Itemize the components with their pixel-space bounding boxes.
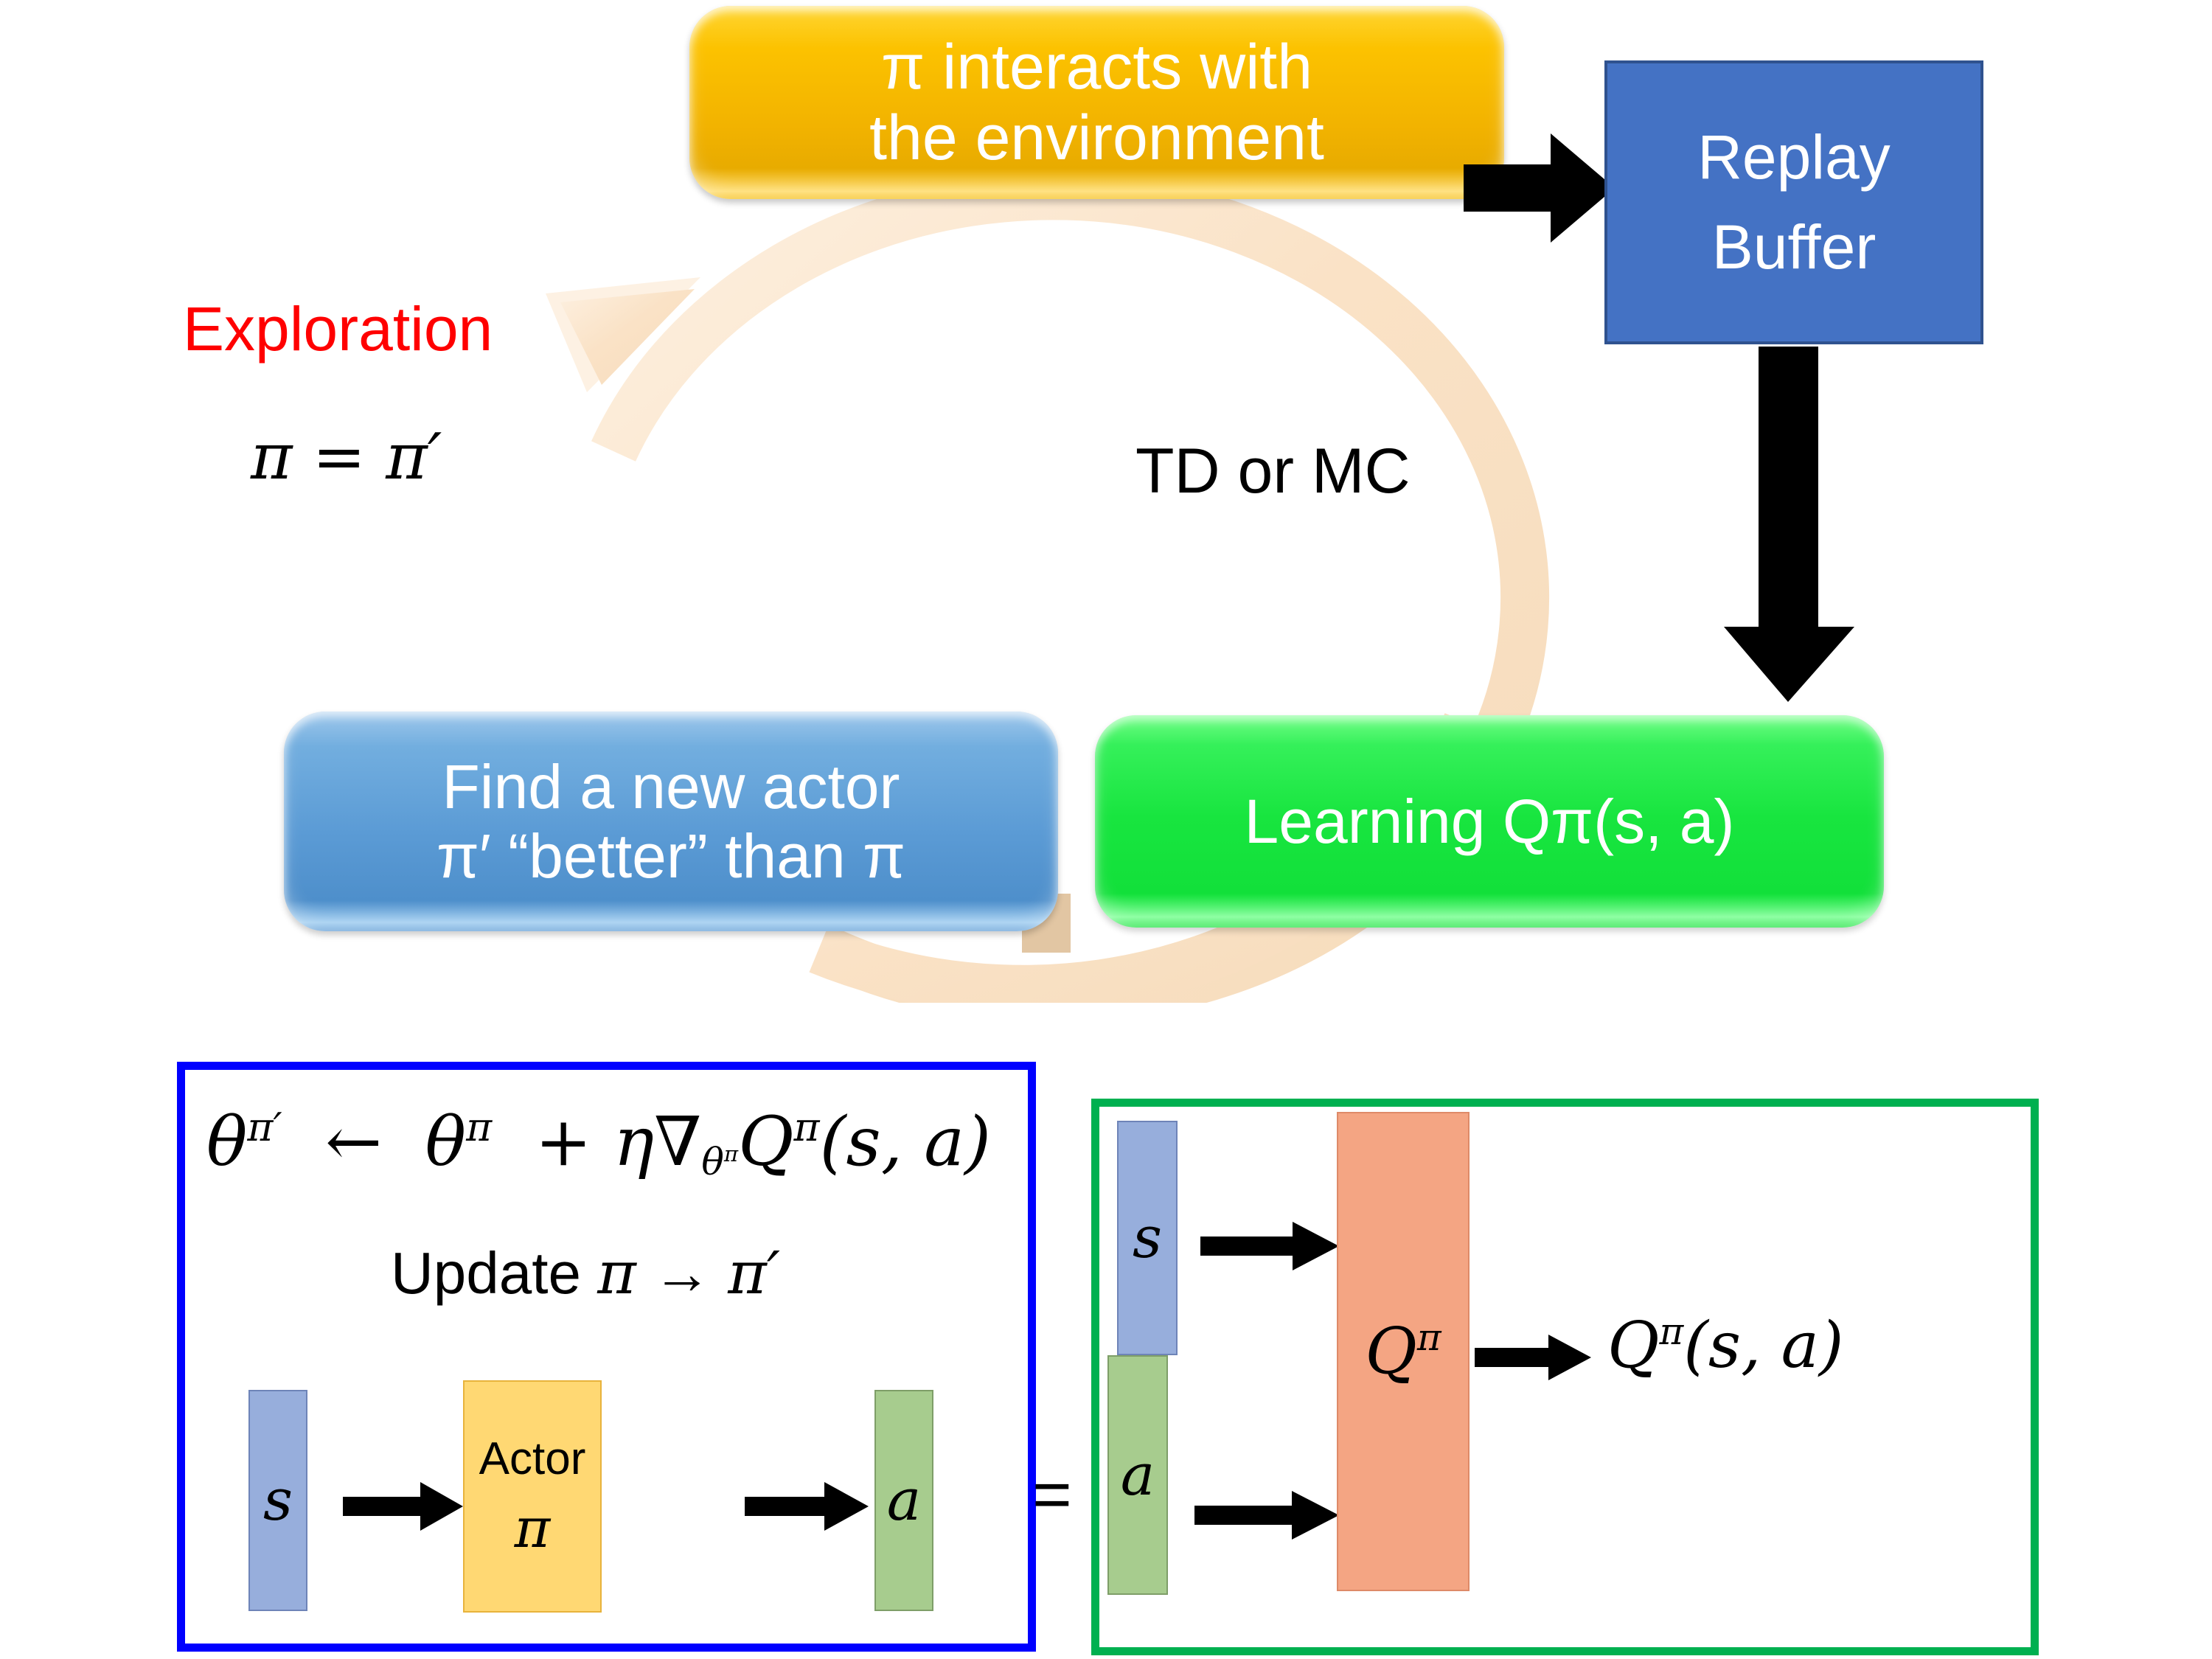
learning-q-label: Learning Qπ(s, a) [1245,787,1735,856]
q-base: Q [1365,1315,1417,1388]
q-output-args: (s, a) [1683,1309,1843,1382]
environment-line2: the environment [869,102,1324,173]
state-symbol-left: s [263,1467,293,1534]
actor-title: Actor [479,1433,586,1485]
update-policy-label: Update π → π′ [391,1239,780,1307]
replay-buffer-box[interactable]: Replay Buffer [1604,60,1983,344]
equals-sign: = [1032,1456,1072,1534]
exploration-label: Exploration [183,293,493,365]
state-block-right: s [1117,1121,1178,1355]
eta-symbol: η [613,1102,654,1181]
update-word: Update [391,1240,597,1306]
learning-q-box[interactable]: Learning Qπ(s, a) [1095,715,1884,928]
environment-box[interactable]: π interacts with the environment [689,6,1504,199]
diagram-canvas: π interacts with the environment Replay … [0,0,2212,1659]
env-to-buffer-arrow-icon [1464,129,1618,247]
update-from-pi: π [597,1239,636,1307]
q-network-block: Qπ [1337,1112,1470,1591]
update-arrow: → [636,1240,728,1306]
actor-to-action-arrow-icon [745,1482,870,1531]
q-network-symbol: Qπ [1365,1315,1441,1388]
q-symbol: Q [738,1102,793,1181]
find-actor-line2: π′ “better” than π [437,821,905,891]
replay-buffer-line1: Replay [1697,113,1890,203]
q-output-sup: π [1660,1310,1684,1353]
policy-gradient-update-equation: θπ′ ← θπ + η∇θπQπ(s, a) [206,1102,991,1183]
state-symbol-right: s [1133,1205,1162,1271]
find-actor-line1: Find a new actor [437,752,905,821]
q-pi-sup: π [794,1104,820,1150]
action-to-q-arrow-icon [1194,1491,1340,1540]
theta-symbol: θ [206,1102,247,1181]
theta-sub: θ [701,1140,723,1183]
q-output-label: Qπ(s, a) [1607,1309,1843,1382]
environment-line1: π interacts with [869,32,1324,102]
theta-symbol-2: θ [425,1102,466,1181]
state-to-actor-arrow-icon [343,1482,465,1531]
q-args: (s, a) [820,1102,991,1181]
action-block-left: a [874,1390,933,1611]
buffer-to-learning-arrow-icon [1718,347,1858,704]
pi-prime-sup: π′ [247,1104,282,1150]
q-output-base: Q [1607,1309,1660,1382]
action-symbol-left: a [887,1467,922,1534]
pi-equals-pi-prime-label: π = π′ [251,420,442,494]
update-to-pi-prime: π′ [728,1239,780,1307]
find-new-actor-box[interactable]: Find a new actor π′ “better” than π [284,712,1058,931]
q-sup: π [1417,1316,1441,1359]
actor-network-block: Actor π [463,1380,602,1613]
nabla-symbol: ∇ [654,1102,701,1181]
state-block-left: s [248,1390,307,1611]
action-block-right: a [1107,1355,1168,1595]
plus-symbol: + [535,1102,592,1181]
pi-sup: π [466,1104,492,1150]
left-arrow-symbol: ← [325,1102,382,1181]
pi-sub-sup: π [724,1141,738,1166]
q-to-output-arrow-icon [1475,1335,1593,1380]
td-or-mc-label: TD or MC [1135,435,1411,508]
state-to-q-arrow-icon [1200,1222,1340,1270]
replay-buffer-line2: Buffer [1712,203,1877,293]
actor-policy-symbol: π [515,1497,551,1560]
action-symbol-right: a [1121,1442,1155,1509]
